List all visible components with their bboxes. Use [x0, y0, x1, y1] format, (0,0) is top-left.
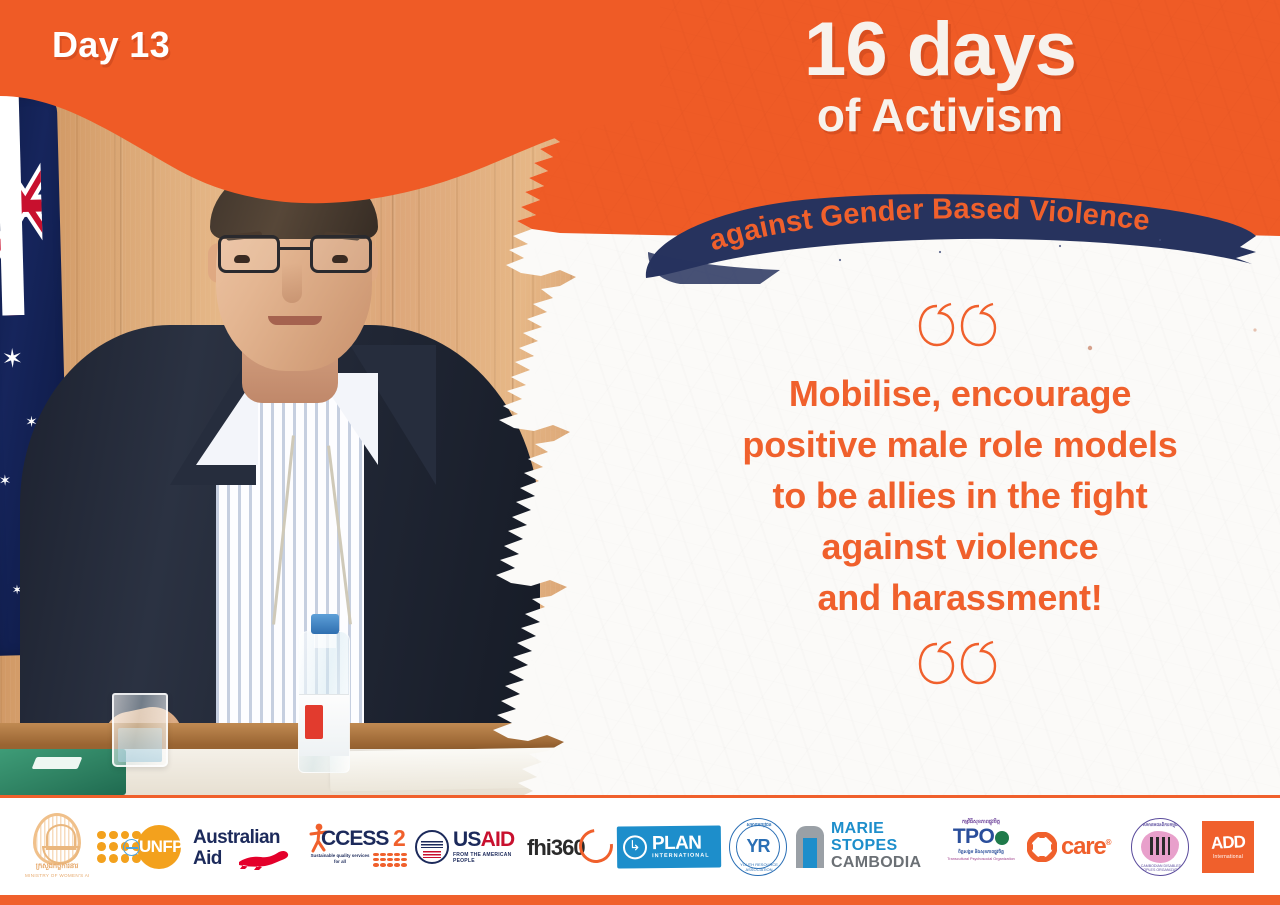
title-line-2: of Activism — [640, 87, 1240, 145]
logo-youth-resource: សមាគមយុវជន YR YOUTH RESOURCE ASSOCIATION — [725, 808, 791, 886]
tpo-globe-icon — [995, 831, 1009, 845]
unfpa-wordmark: UNFPA — [139, 837, 191, 857]
add-wordmark: ADD — [1211, 833, 1246, 852]
mowa-english-text: MINISTRY OF WOMEN'S AFFAIRS — [25, 873, 89, 878]
quote-close-icon — [660, 638, 1260, 692]
plan-wordmark: PLAN — [652, 834, 710, 853]
msc-line-2: CAMBODIA — [831, 855, 935, 872]
tpo-khmer-sub: ចិត្តសង្គម និងសុខភាពផ្លូវចិត្ត — [939, 849, 1023, 856]
quote-text: Mobilise, encourage positive male role m… — [660, 368, 1260, 624]
ausaid-line-2: Aid — [193, 849, 222, 868]
usaid-word-us: US — [453, 828, 481, 851]
quote-line-3: to be allies in the fight — [660, 470, 1260, 521]
logo-fhi360: fhi360 — [527, 808, 613, 886]
partner-logo-bar: ក្រសួងកិច្ចការនារី MINISTRY OF WOMEN'S A… — [0, 795, 1280, 895]
usaid-tagline: FROM THE AMERICAN PEOPLE — [453, 852, 523, 864]
logo-usaid: USAID FROM THE AMERICAN PEOPLE — [415, 808, 523, 886]
usaid-seal-icon — [415, 830, 449, 864]
cambodia-map-icon — [1141, 831, 1179, 863]
marie-stopes-doorway-icon — [795, 826, 825, 868]
logo-marie-stopes-cambodia: MARIE STOPES CAMBODIA — [795, 808, 935, 886]
quote-line-5: and harassment! — [660, 572, 1260, 623]
event-photo: ✶ ✶ ✶ ✶ ✶ — [0, 0, 690, 795]
plan-subtitle: INTERNATIONAL — [652, 852, 710, 859]
yr-glyph: YR — [746, 836, 769, 857]
yr-english-text: YOUTH RESOURCE ASSOCIATION — [730, 862, 788, 872]
logo-access-2: CCESS 2 Sustainable quality services for… — [307, 808, 411, 886]
yr-khmer-text: សមាគមយុវជន — [730, 822, 788, 829]
logo-australian-aid: Australian Aid — [193, 808, 303, 886]
person-figure — [20, 95, 540, 795]
poster-canvas: ✶ ✶ ✶ ✶ ✶ — [0, 0, 1280, 905]
access-wordmark: CCESS — [321, 827, 388, 851]
quote-line-2: positive male role models — [660, 419, 1260, 470]
fhi360-arc-icon — [572, 822, 620, 870]
msc-line-1: MARIE STOPES — [831, 821, 935, 855]
banner-text: against Gender Based Violence — [705, 193, 1151, 257]
water-bottle — [298, 631, 350, 773]
quote-line-1: Mobilise, encourage — [660, 368, 1260, 419]
quote-open-icon — [660, 300, 1260, 354]
day-badge: Day 13 — [52, 24, 170, 66]
drinking-glass — [112, 693, 168, 767]
gbv-banner: against Gender Based Violence — [640, 192, 1260, 284]
tpo-english-sub: Transcultural Psychosocial Organization — [939, 857, 1023, 862]
svg-text:against Gender Based Violence: against Gender Based Violence — [705, 193, 1151, 257]
un-emblem-icon — [123, 839, 140, 856]
logo-care: care® — [1027, 808, 1123, 886]
title-line-1: 16 days — [640, 14, 1240, 87]
mowa-khmer-text: ក្រសួងកិច្ចការនារី — [25, 863, 89, 871]
poster-title: 16 days of Activism — [640, 14, 1240, 144]
plan-globe-icon — [623, 835, 647, 859]
access-tagline: Sustainable quality services for all — [309, 853, 371, 866]
logo-plan-international: PLAN INTERNATIONAL — [617, 808, 721, 886]
document-stack — [330, 746, 621, 791]
fhi360-wordmark: fhi360 — [527, 835, 585, 861]
logo-unfpa: UNFPA — [97, 808, 189, 886]
add-subtitle: International — [1213, 854, 1243, 860]
access-number: 2 — [393, 825, 406, 852]
ausaid-line-1: Australian — [193, 828, 280, 847]
green-notepad — [0, 749, 126, 795]
logo-cambodia-seal: សមាគមជនពិការកម្ពុជា CAMBODIAN DISABLED P… — [1127, 808, 1193, 886]
cambodia-seal-english: CAMBODIAN DISABLED PEOPLES ORGANIZATION — [1132, 864, 1189, 872]
bottom-accent-bar — [0, 895, 1280, 905]
usaid-word-aid: AID — [481, 828, 515, 851]
quote-line-4: against violence — [660, 521, 1260, 572]
care-wordmark: care — [1061, 833, 1106, 860]
kangaroo-icon — [237, 846, 289, 870]
quote-block: Mobilise, encourage positive male role m… — [660, 300, 1260, 692]
cambodia-seal-khmer: សមាគមជនពិការកម្ពុជា — [1132, 822, 1189, 829]
care-hands-circle-icon — [1027, 832, 1057, 862]
logo-add-international: ADD International — [1197, 808, 1259, 886]
tpo-wordmark: TPO — [953, 825, 994, 848]
logo-tpo: កម្មវិធីសុខភាពផ្លូវចិត្ត TPO ចិត្តសង្គម … — [939, 808, 1023, 886]
logo-ministry-womens-affairs: ក្រសួងកិច្ចការនារី MINISTRY OF WOMEN'S A… — [21, 808, 93, 886]
